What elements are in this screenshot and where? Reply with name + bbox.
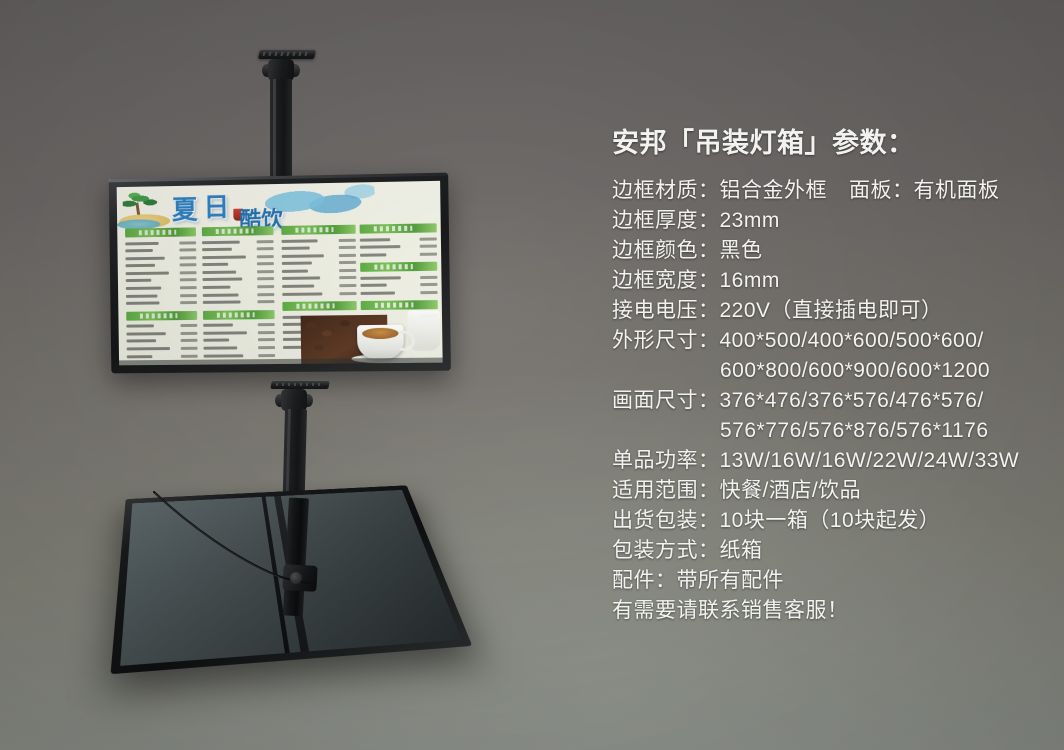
menu-item-row (203, 322, 275, 329)
menu-item-price (181, 339, 198, 342)
spec-label: 接电电压： (612, 299, 720, 322)
lit-lightbox: 夏 日 酷 饮 (109, 173, 451, 374)
spec-value: 600*800/600*900/600*1200 (720, 359, 990, 382)
menu-item-name (126, 264, 155, 267)
menu-item-row (204, 352, 276, 359)
menu-item-price (181, 332, 198, 335)
lower-mount-plate-holes (276, 383, 325, 386)
menu-item-name (282, 262, 312, 265)
menu-section-header (202, 226, 274, 236)
menu-section (203, 310, 275, 359)
menu-item-name (125, 241, 158, 245)
menu-item-name (282, 285, 314, 288)
spec-value: 13W/16W/16W/22W/24W/33W (720, 449, 1020, 472)
menu-item-price (420, 237, 437, 240)
menu-title-char-1: 夏 (172, 190, 198, 227)
menu-item-row (126, 270, 197, 277)
menu-item-name (360, 276, 400, 280)
menu-item-row (282, 275, 356, 282)
menu-item-row (360, 243, 437, 250)
menu-item-price (258, 331, 275, 334)
menu-item-row (126, 292, 197, 299)
menu-item-name (126, 332, 165, 335)
spec-label: 出货包装： (612, 509, 720, 532)
spec-value: 220V（直接插电即可） (720, 299, 943, 322)
menu-item-name (204, 354, 244, 357)
menu-item-price (180, 324, 197, 327)
menu-item-name (203, 301, 241, 304)
menu-item-name (282, 254, 324, 258)
menu-section (360, 223, 437, 258)
menu-item-row (361, 289, 438, 296)
menu-item-name (126, 325, 154, 328)
menu-header-artwork: 夏 日 酷 饮 (117, 181, 441, 229)
product-photo-canvas: 夏 日 酷 饮 (0, 0, 1064, 750)
menu-item-row (202, 238, 274, 245)
menu-item-price (258, 323, 275, 326)
menu-item-row (203, 276, 275, 283)
menu-item-row (282, 267, 356, 274)
menu-poster: 夏 日 酷 饮 (117, 181, 443, 366)
spec-line-frame-material: 边框材质：铝合金外框面板：有机面板 (612, 176, 1062, 206)
menu-title-char-2: 日 (203, 187, 229, 224)
menu-item-name (203, 293, 239, 296)
panel-mount-bolt (290, 572, 302, 584)
menu-item-row (127, 345, 198, 352)
menu-item-row (360, 282, 437, 289)
menu-section (126, 311, 198, 360)
menu-item-row (203, 345, 275, 352)
menu-item-price (257, 300, 274, 303)
spec-value: 16mm (720, 269, 780, 292)
menu-section-header (203, 310, 275, 320)
menu-item-price (180, 263, 197, 266)
menu-section (125, 227, 197, 306)
menu-item-price (339, 284, 356, 287)
menu-item-name (282, 239, 318, 243)
spec-panel: 安邦「吊装灯箱」参数： 边框材质：铝合金外框面板：有机面板边框厚度：23mm边框… (612, 126, 1062, 626)
menu-section (360, 262, 437, 296)
spec-line-power: 单品功率：13W/16W/16W/22W/24W/33W (612, 446, 1062, 476)
menu-item-row (126, 262, 197, 269)
spec-line-voltage: 接电电压：220V（直接插电即可） (612, 296, 1062, 326)
spec-label: 边框宽度： (612, 269, 720, 292)
menu-item-name (202, 248, 232, 251)
menu-item-name (203, 339, 229, 342)
menu-item-name (126, 279, 152, 282)
spec-line-frame-color: 边框颜色：黑色 (612, 236, 1062, 266)
spec-label: 单品功率： (612, 449, 720, 472)
menu-item-row (360, 274, 437, 281)
menu-item-row (126, 277, 197, 284)
spec-label: 边框颜色： (612, 239, 720, 262)
menu-item-price (420, 283, 437, 286)
menu-item-row (126, 330, 197, 337)
menu-item-price (257, 240, 274, 243)
ceiling-mount-plate-holes (263, 52, 312, 56)
menu-item-name (203, 346, 237, 349)
menu-item-row (282, 283, 356, 290)
menu-item-name (125, 256, 164, 260)
menu-section-header (281, 225, 355, 235)
menu-section-header (360, 223, 437, 233)
menu-item-name (361, 291, 395, 294)
menu-item-row (203, 329, 275, 336)
menu-item-price (257, 285, 274, 288)
spec-line-application: 适用范围：快餐/酒店/饮品 (612, 476, 1062, 506)
menu-item-row (202, 246, 274, 253)
menu-item-name (202, 263, 228, 266)
menu-item-price (339, 246, 356, 249)
menu-item-price (339, 254, 356, 257)
spec-line-shipping-pack: 出货包装：10块一箱（10块起发） (612, 506, 1062, 536)
menu-item-row (282, 260, 356, 267)
menu-item-price (420, 291, 437, 294)
ceiling-pivot-knuckle (268, 59, 294, 81)
spec-line-frame-thickness: 边框厚度：23mm (612, 206, 1062, 236)
menu-item-price (339, 292, 356, 295)
menu-item-row (202, 261, 274, 268)
menu-item-price (339, 261, 356, 264)
spec-line-outer-size: 外形尺寸：400*500/400*600/500*600/ (612, 326, 1062, 356)
menu-item-name (126, 294, 157, 297)
menu-item-price (420, 275, 437, 278)
menu-item-row (126, 323, 197, 330)
menu-item-price (180, 294, 197, 297)
menu-item-row (282, 290, 356, 297)
menu-item-row (281, 237, 355, 244)
menu-section-header (360, 262, 437, 272)
menu-item-row (125, 254, 196, 261)
menu-column-2 (202, 226, 275, 364)
menu-item-row (203, 299, 275, 306)
spec-label: 适用范围： (612, 479, 720, 502)
spec-value: 快餐/酒店/饮品 (720, 479, 862, 502)
spec-value: 400*500/400*600/500*600/ (720, 329, 984, 352)
menu-item-name (203, 286, 231, 289)
menu-item-price (420, 245, 437, 248)
spec-value: 23mm (720, 209, 780, 232)
palm-tree-icon (123, 189, 163, 216)
spec-label: 边框材质： (612, 179, 720, 202)
spec-value: 有需要请联系销售客服！ (612, 599, 849, 622)
menu-item-row (282, 244, 356, 251)
menu-item-name (360, 253, 386, 256)
spec-label-extra: 面板： (849, 179, 914, 202)
menu-item-name (203, 324, 233, 327)
spec-value: 纸箱 (720, 539, 763, 562)
menu-item-row (125, 247, 196, 254)
menu-item-row (203, 291, 275, 298)
menu-item-row (126, 285, 197, 292)
menu-item-row (202, 268, 274, 275)
lightbox-aluminum-frame: 夏 日 酷 饮 (109, 173, 451, 374)
menu-section (202, 226, 275, 306)
spec-label: 包装方式： (612, 539, 720, 562)
menu-item-name (202, 270, 236, 273)
menu-item-name (360, 284, 386, 287)
menu-item-price (257, 270, 274, 273)
menu-item-price (258, 346, 275, 349)
menu-item-price (179, 241, 196, 244)
spec-label: 配件： (612, 569, 677, 592)
menu-item-price (257, 278, 274, 281)
spec-list: 边框材质：铝合金外框面板：有机面板边框厚度：23mm边框颜色：黑色边框宽度：16… (612, 176, 1062, 626)
menu-item-price (258, 338, 275, 341)
menu-item-name (202, 240, 240, 244)
menu-item-row (202, 253, 274, 260)
menu-item-name (127, 347, 170, 350)
menu-item-price (181, 347, 198, 350)
menu-item-price (179, 248, 196, 251)
spec-value: 黑色 (720, 239, 763, 262)
menu-item-price (257, 262, 274, 265)
menu-section-header (126, 311, 197, 321)
spec-value: 376*476/376*576/476*576/ (720, 389, 984, 412)
menu-item-row (282, 252, 356, 259)
menu-item-row (203, 337, 275, 344)
menu-item-name (127, 355, 153, 358)
menu-item-name (282, 269, 308, 272)
menu-item-name (282, 292, 322, 296)
spec-label: 画面尺寸： (612, 389, 720, 412)
spec-value-extra: 有机面板 (914, 179, 1000, 202)
menu-item-price (180, 256, 197, 259)
spec-line-pack-method: 包装方式：纸箱 (612, 536, 1062, 566)
spec-line-accessories: 配件：带所有配件 (612, 566, 1062, 596)
menu-item-price (339, 276, 356, 279)
menu-item-row (127, 353, 198, 360)
menu-section-header (125, 227, 196, 237)
spec-value: 铝合金外框 (720, 179, 828, 202)
menu-item-name (126, 271, 169, 275)
menu-item-row (360, 235, 437, 242)
menu-item-price (181, 354, 198, 357)
menu-item-row (203, 284, 275, 291)
menu-section (281, 225, 356, 297)
menu-item-row (127, 338, 198, 345)
menu-item-name (126, 287, 161, 290)
menu-item-price (180, 279, 197, 282)
spec-line-outer-size-cont: 600*800/600*900/600*1200 (612, 356, 1062, 386)
menu-item-name (360, 238, 390, 242)
menu-item-price (339, 238, 356, 241)
menu-item-price (180, 286, 197, 289)
spec-line-picture-size: 画面尺寸：376*476/376*576/476*576/ (612, 386, 1062, 416)
spec-line-picture-size-cont: 576*776/576*876/576*1176 (612, 416, 1062, 446)
menu-item-name (203, 278, 243, 282)
menu-item-row (360, 251, 437, 258)
menu-item-price (420, 252, 437, 255)
upper-mount-pole-highlight (273, 79, 276, 183)
spec-line-contact: 有需要请联系销售客服！ (612, 596, 1062, 626)
coffee-photo (300, 300, 442, 364)
menu-item-price (257, 255, 274, 258)
menu-item-price (258, 354, 275, 357)
menu-item-name (127, 340, 156, 343)
menu-item-price (339, 269, 356, 272)
spec-value: 带所有配件 (677, 569, 785, 592)
menu-item-row (125, 239, 196, 246)
spec-value: 576*776/576*876/576*1176 (720, 419, 989, 442)
menu-item-name (125, 249, 153, 252)
menu-item-price (257, 247, 274, 250)
menu-item-name (282, 247, 310, 250)
spec-label: 外形尺寸： (612, 329, 720, 352)
menu-item-price (180, 271, 197, 274)
menu-column-1 (125, 227, 198, 364)
lower-pivot-knuckle (281, 389, 307, 411)
menu-item-row (126, 300, 197, 307)
menu-item-name (126, 302, 159, 305)
menu-item-name (203, 331, 247, 334)
menu-item-price (180, 301, 197, 304)
menu-item-grid (117, 223, 442, 365)
spec-title: 安邦「吊装灯箱」参数： (612, 126, 1062, 160)
spec-label: 边框厚度： (612, 209, 720, 232)
menu-item-name (202, 255, 246, 259)
spec-line-frame-width: 边框宽度：16mm (612, 266, 1062, 296)
menu-item-name (282, 277, 320, 281)
spec-value: 10块一箱（10块起发） (720, 509, 941, 532)
menu-item-price (257, 293, 274, 296)
menu-item-name (360, 245, 400, 249)
